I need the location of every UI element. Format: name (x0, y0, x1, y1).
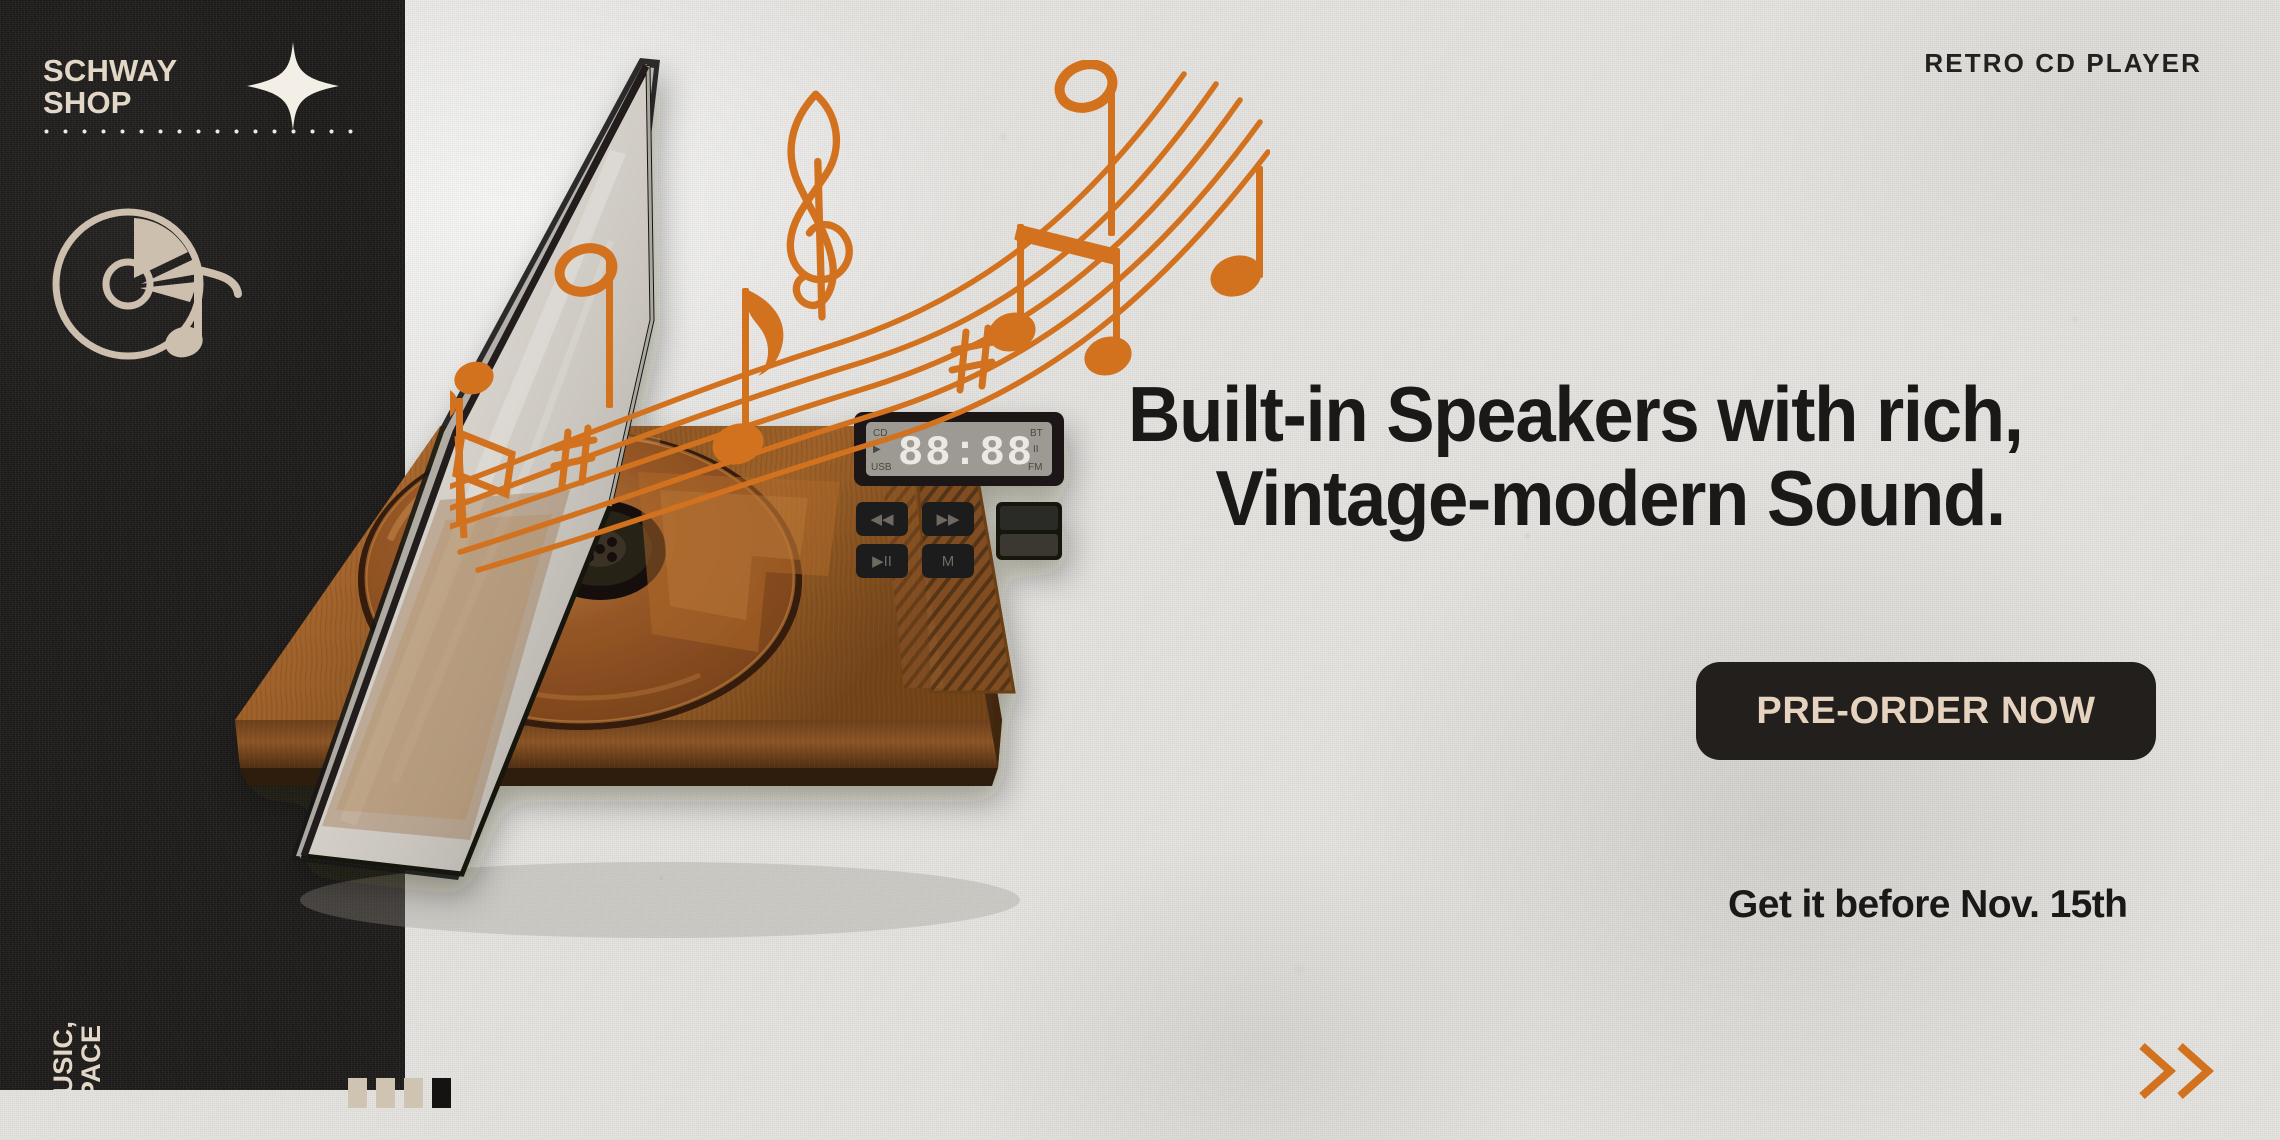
carousel-dot-2[interactable] (376, 1078, 395, 1108)
svg-text:▶II: ▶II (872, 553, 892, 570)
double-chevron-right-icon[interactable] (2136, 1036, 2222, 1106)
promo-banner: SCHWAY SHOP YOUR MUSIC, YOUR SPACE (0, 0, 2280, 1140)
svg-text:CD: CD (873, 428, 887, 439)
page-title: Built-in Speakers with rich,Vintage-mode… (1128, 372, 2142, 540)
product-image-retro-cd-player: 88:88 CD ▶ USB BT II FM ◀◀ ▶▶ ▶II M (140, 20, 1190, 970)
svg-text:BT: BT (1030, 428, 1043, 439)
product-category-label: RETRO CD PLAYER (1924, 48, 2202, 79)
svg-text:M: M (942, 553, 955, 570)
carousel-dot-3[interactable] (404, 1078, 423, 1108)
svg-text:◀◀: ◀◀ (870, 511, 894, 528)
svg-text:88:88: 88:88 (898, 429, 1034, 477)
carousel-dot-1[interactable] (348, 1078, 367, 1108)
carousel-dot-4[interactable] (432, 1078, 451, 1108)
svg-text:FM: FM (1028, 462, 1042, 473)
offer-deadline-text: Get it before Nov. 15th (1728, 883, 2127, 927)
carousel-progress[interactable] (348, 1078, 451, 1108)
headline-line-1: Built-in Speakers with rich, (1128, 370, 2023, 458)
pre-order-button[interactable]: PRE-ORDER NOW (1696, 662, 2156, 760)
svg-text:▶: ▶ (873, 444, 881, 455)
svg-text:USB: USB (871, 462, 892, 473)
headline-line-2: Vintage-modern Sound. (1128, 456, 2142, 540)
sidebar-tagline: YOUR MUSIC, YOUR SPACE (49, 875, 105, 1090)
svg-text:II: II (1033, 444, 1039, 455)
svg-text:▶▶: ▶▶ (936, 511, 960, 528)
